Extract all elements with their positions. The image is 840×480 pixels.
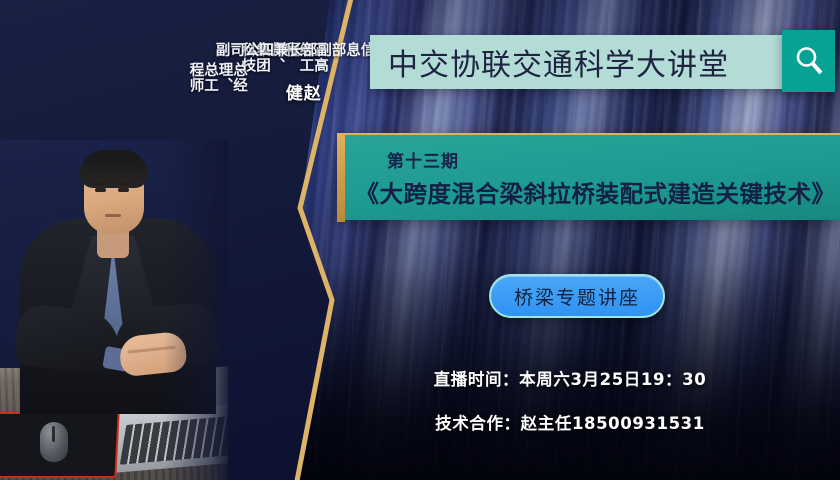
contact-info: 技术合作：赵主任18500931531 [300, 410, 840, 434]
page-title: 中交协联交通科学大讲堂 [370, 40, 729, 84]
livestream-poster: 正高级工程师、集团科技 信息部副部长兼四公司副 总经理、总工程师 赵健 中交协联… [0, 0, 840, 480]
lecture-title: 《大跨度混合梁斜拉桥装配式建造关键技术》 [351, 175, 840, 209]
lecture-title-bar: 第十三期 《大跨度混合梁斜拉桥装配式建造关键技术》 [337, 133, 840, 220]
credential-line-1: 总经理、总工程师 [188, 62, 246, 93]
credential-line-2: 信息部副部长兼四公司副 [214, 42, 374, 58]
search-button[interactable] [782, 30, 835, 92]
episode-number: 第十三期 [387, 147, 459, 172]
broadcast-time: 直播时间：本周六3月25日19：30 [300, 366, 840, 390]
speaker-name: 赵健 [282, 84, 318, 103]
search-icon [794, 45, 824, 77]
brand-title-bar: 中交协联交通科学大讲堂 [370, 35, 795, 89]
portrait-edge-fade [0, 140, 228, 480]
category-badge[interactable]: 桥梁专题讲座 [489, 274, 665, 318]
category-badge-label: 桥梁专题讲座 [514, 283, 640, 310]
